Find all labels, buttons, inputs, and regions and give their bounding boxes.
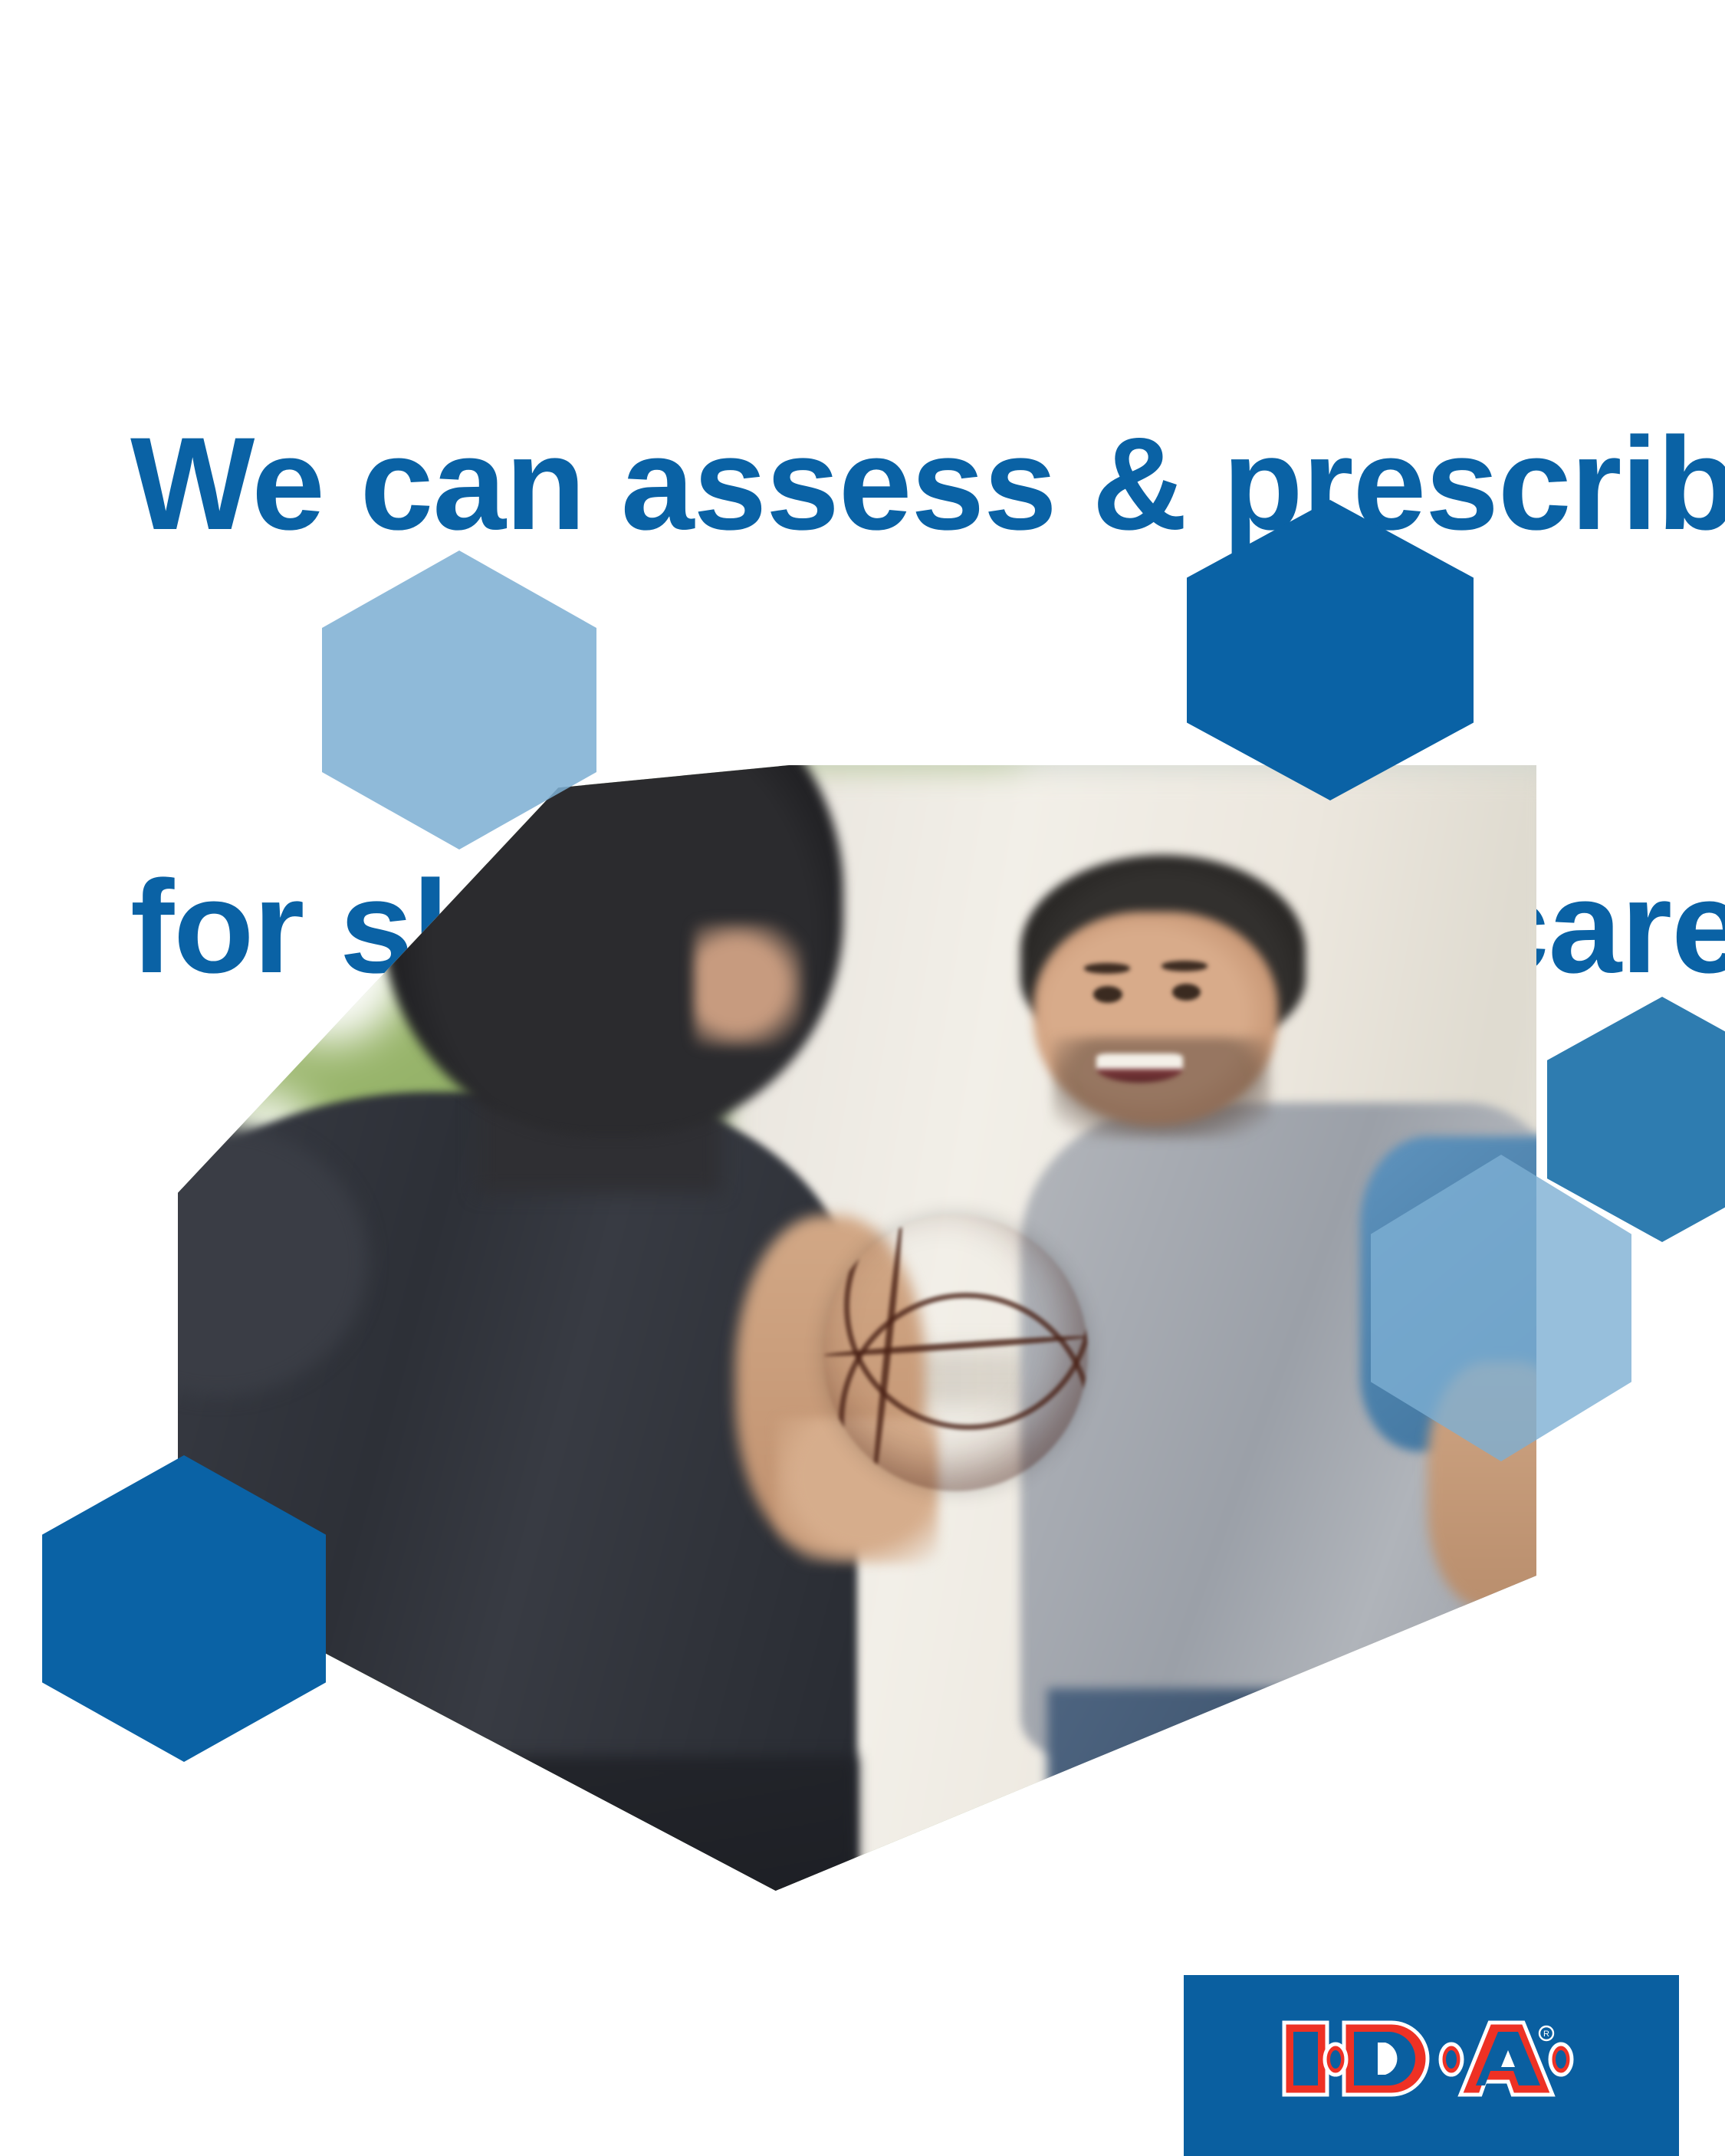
basketball xyxy=(823,1215,1089,1491)
ida-logo-icon: R xyxy=(1278,2016,1585,2101)
man-eyebrow-left xyxy=(1084,963,1130,973)
headline-line-1: We can assess & prescribe xyxy=(130,410,1633,558)
man-eye-right xyxy=(1172,984,1201,1001)
poster-canvas: We can assess & prescribe for skin rashe… xyxy=(0,0,1725,2156)
man-eyebrow-right xyxy=(1161,961,1207,971)
footnote-line-1: *At participating locations only. Condit… xyxy=(48,2149,1121,2156)
man-eye-left xyxy=(1093,986,1122,1003)
man-jeans xyxy=(1047,1688,1536,1891)
boy-ear xyxy=(694,923,803,1047)
brand-logo-panel: R xyxy=(1184,1975,1679,2156)
svg-text:R: R xyxy=(1543,2029,1549,2039)
footnote-disclaimer: *At participating locations only. Condit… xyxy=(48,2062,1121,2156)
registered-trademark-icon: R xyxy=(1539,2026,1553,2040)
man-mouth xyxy=(1096,1053,1183,1083)
boy-lower-body xyxy=(259,1756,857,1891)
